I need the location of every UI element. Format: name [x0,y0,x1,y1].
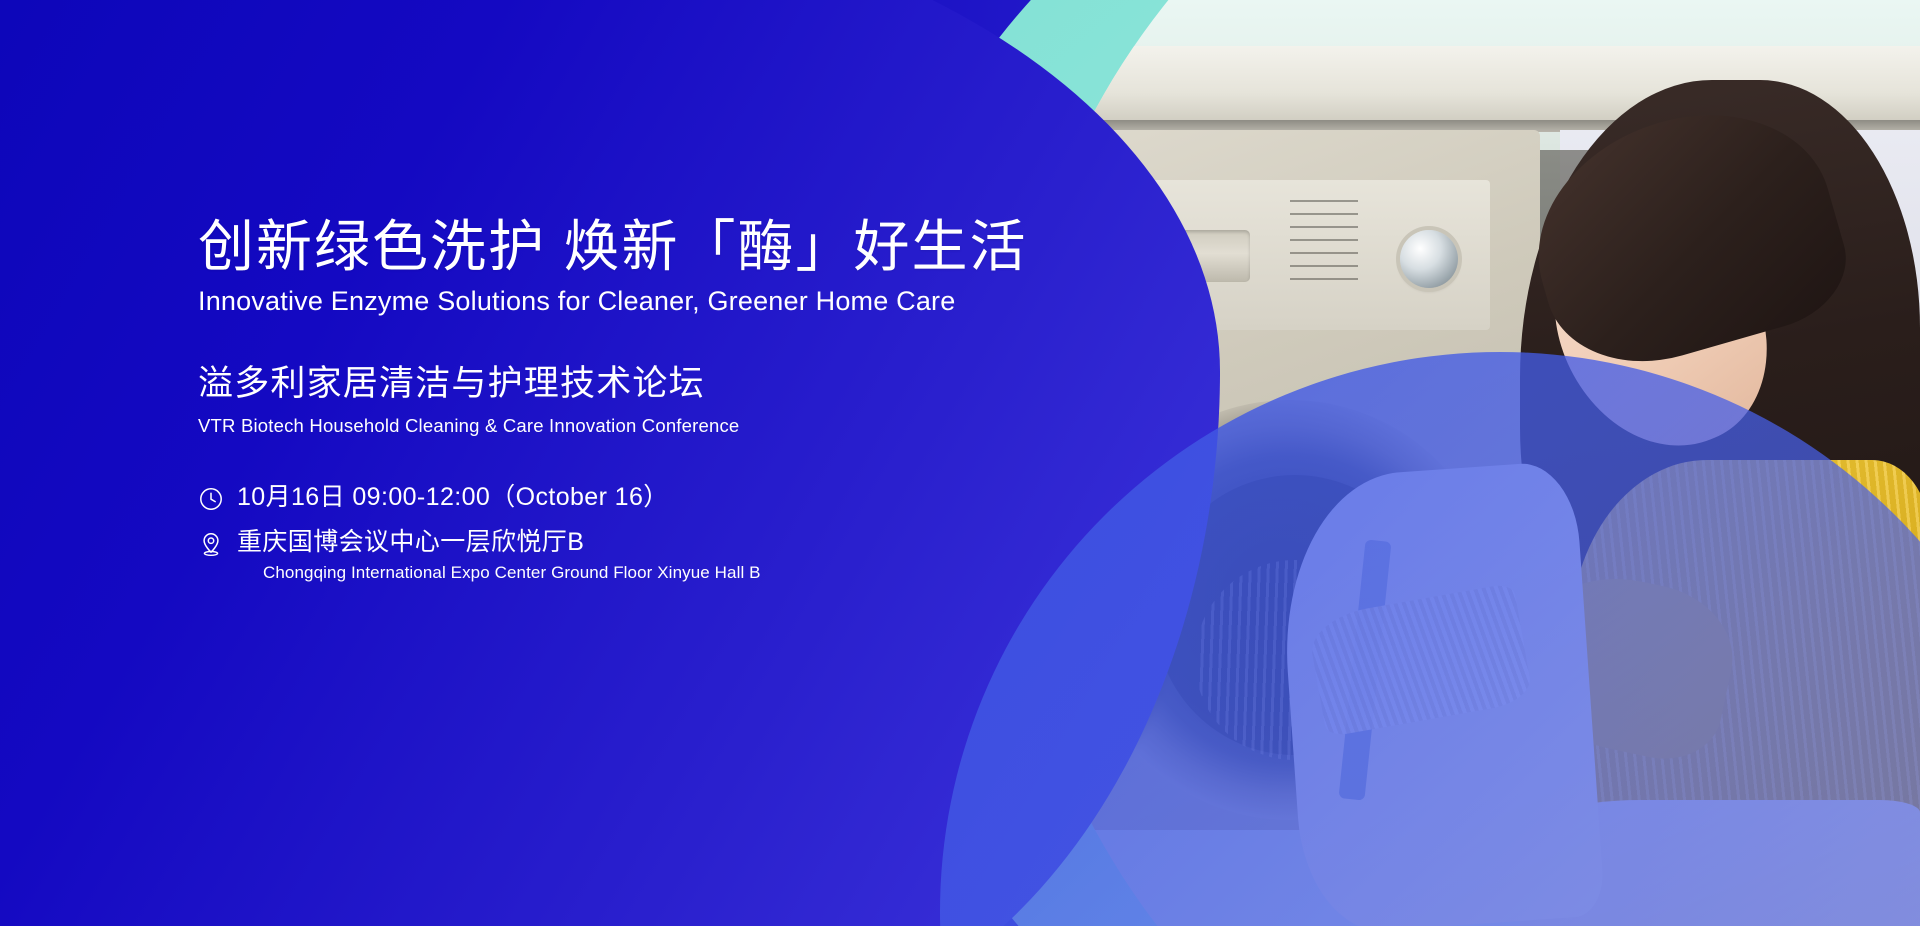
subtitle-chinese: 溢多利家居清洁与护理技术论坛 [198,355,1028,406]
event-time-row: 10月16日 09:00-12:00（October 16） [198,483,1028,512]
clock-icon [198,486,224,512]
event-location-texts: 重庆国博会议中心一层欣悦厅B Chongqing International E… [237,528,761,583]
title-chinese: 创新绿色洗护 焕新「酶」好生活 [198,214,1028,280]
conference-banner: 创新绿色洗护 焕新「酶」好生活 Innovative Enzyme Soluti… [0,0,1920,926]
control-panel-labels [1290,200,1390,310]
event-time-text: 10月16日 09:00-12:00（October 16） [237,483,669,511]
event-location-english: Chongqing International Expo Center Grou… [263,563,761,583]
location-pin-icon [198,531,224,557]
banner-content: 创新绿色洗护 焕新「酶」好生活 Innovative Enzyme Soluti… [198,214,1028,599]
event-location-chinese: 重庆国博会议中心一层欣悦厅B [237,528,761,556]
subtitle-english: VTR Biotech Household Cleaning & Care In… [198,415,1028,437]
program-dial [1400,230,1458,288]
event-location-row: 重庆国博会议中心一层欣悦厅B Chongqing International E… [198,528,1028,583]
event-details: 10月16日 09:00-12:00（October 16） 重庆国博会议中心一… [198,483,1028,583]
title-english: Innovative Enzyme Solutions for Cleaner,… [198,286,1028,317]
